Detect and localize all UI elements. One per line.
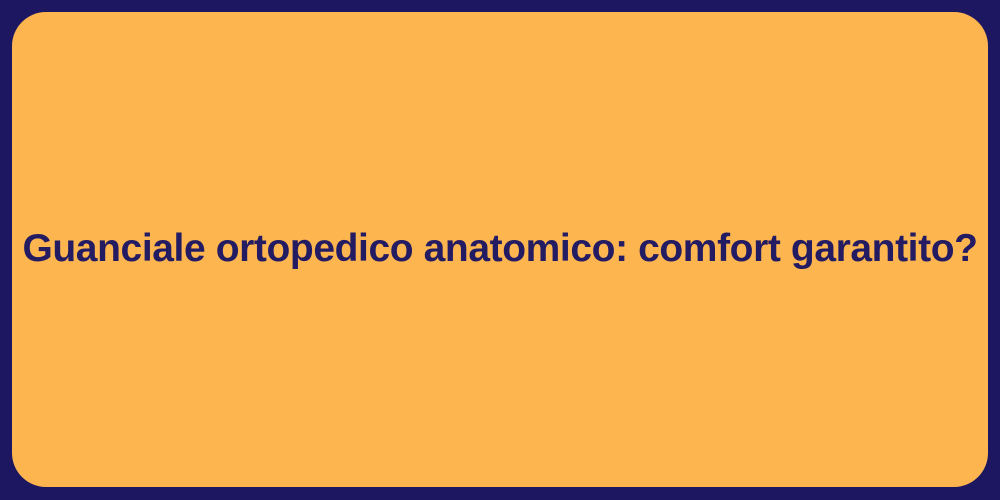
banner-frame: Guanciale ortopedico anatomico: comfort …	[0, 0, 1000, 500]
banner-card-panel: Guanciale ortopedico anatomico: comfort …	[12, 12, 988, 487]
page-title: Guanciale ortopedico anatomico: comfort …	[12, 227, 988, 272]
